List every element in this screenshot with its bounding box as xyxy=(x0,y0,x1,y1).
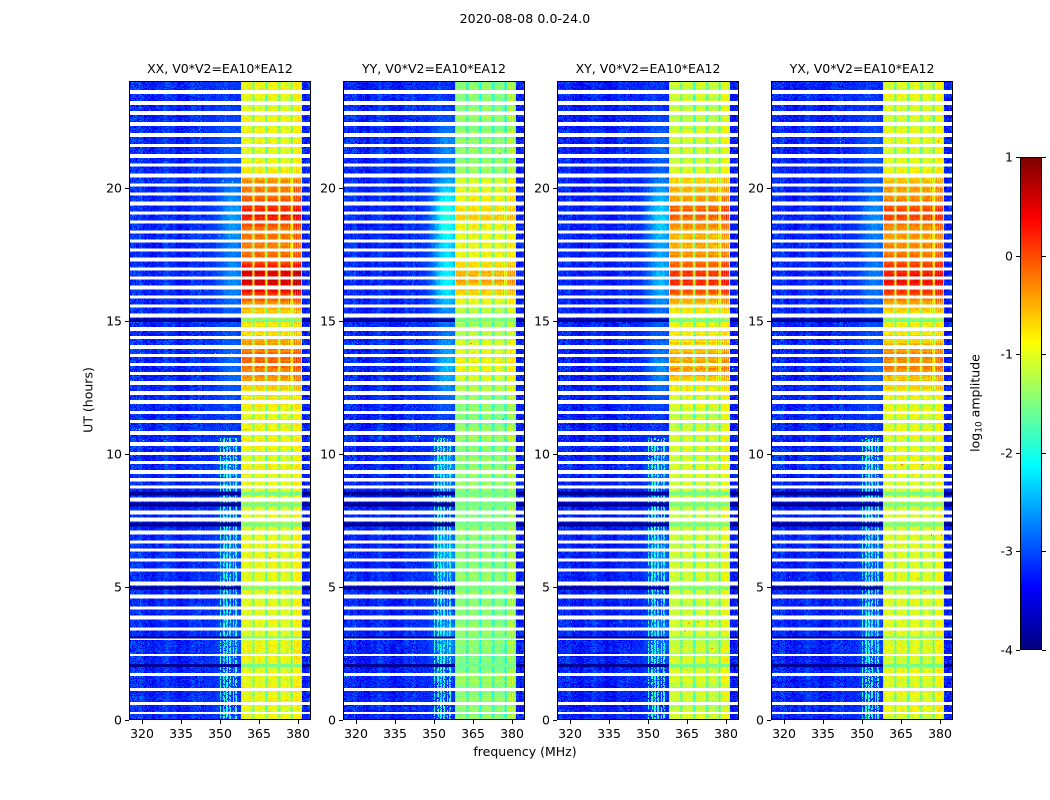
y-tick-label: 20 xyxy=(534,180,550,195)
x-tick xyxy=(901,720,902,724)
colorbar-tick xyxy=(1016,256,1020,257)
panel-xy-title: XY, V0*V2=EA10*EA12 xyxy=(576,61,721,76)
colorbar-tick xyxy=(1016,354,1020,355)
x-tick-label: 365 xyxy=(675,726,699,741)
panel-yx-title: YX, V0*V2=EA10*EA12 xyxy=(790,61,935,76)
y-tick xyxy=(553,720,557,721)
x-tick xyxy=(356,720,357,724)
panel-yy-title: YY, V0*V2=EA10*EA12 xyxy=(362,61,506,76)
x-tick-label: 380 xyxy=(500,726,524,741)
colorbar-tick xyxy=(1042,256,1046,257)
panel-yy-heatmap xyxy=(344,82,524,719)
panel-xy-heatmap xyxy=(558,82,738,719)
x-tick xyxy=(473,720,474,724)
y-tick xyxy=(767,587,771,588)
colorbar-tick xyxy=(1016,551,1020,552)
y-tick-label: 15 xyxy=(106,313,122,328)
y-tick xyxy=(125,720,129,721)
x-tick-label: 320 xyxy=(130,726,154,741)
x-tick-label: 350 xyxy=(422,726,446,741)
y-tick-label: 5 xyxy=(756,579,764,594)
figure-canvas: 2020-08-08 0.0-24.0 XX, V0*V2=EA10*EA12 … xyxy=(0,0,1050,800)
x-tick xyxy=(181,720,182,724)
y-tick xyxy=(339,321,343,322)
x-tick xyxy=(687,720,688,724)
colorbar-tick-label: -2 xyxy=(1001,445,1013,460)
y-tick xyxy=(125,454,129,455)
y-tick-label: 5 xyxy=(542,579,550,594)
panel-yx: YX, V0*V2=EA10*EA12 32033535036538005101… xyxy=(771,81,953,720)
x-tick xyxy=(434,720,435,724)
colorbar-tick-label: -4 xyxy=(1001,643,1013,658)
panel-xy: XY, V0*V2=EA10*EA12 32033535036538005101… xyxy=(557,81,739,720)
y-tick-label: 0 xyxy=(328,713,336,728)
colorbar-tick xyxy=(1042,551,1046,552)
x-tick-label: 365 xyxy=(247,726,271,741)
x-tick xyxy=(940,720,941,724)
x-tick-label: 350 xyxy=(208,726,232,741)
x-axis-label: frequency (MHz) xyxy=(0,744,1050,759)
y-tick xyxy=(767,454,771,455)
y-tick-label: 5 xyxy=(328,579,336,594)
y-tick-label: 10 xyxy=(106,446,122,461)
y-tick-label: 15 xyxy=(748,313,764,328)
colorbar-canvas xyxy=(1021,158,1041,649)
y-tick xyxy=(339,587,343,588)
x-tick-label: 380 xyxy=(286,726,310,741)
colorbar-tick-label: 0 xyxy=(1005,248,1013,263)
colorbar-tick-label: -3 xyxy=(1001,544,1013,559)
y-tick xyxy=(125,188,129,189)
y-tick-label: 20 xyxy=(106,180,122,195)
colorbar-label-subscript: 10 xyxy=(974,421,984,432)
panel-xx-heatmap xyxy=(130,82,310,719)
y-tick xyxy=(553,454,557,455)
x-tick-label: 365 xyxy=(461,726,485,741)
x-tick xyxy=(512,720,513,724)
y-tick xyxy=(339,720,343,721)
x-tick-label: 380 xyxy=(928,726,952,741)
y-tick xyxy=(125,587,129,588)
colorbar-gradient xyxy=(1020,157,1042,650)
colorbar-tick xyxy=(1016,650,1020,651)
y-tick xyxy=(767,720,771,721)
y-tick-label: 10 xyxy=(748,446,764,461)
colorbar-tick-label: 1 xyxy=(1005,150,1013,165)
panel-yx-plot[interactable] xyxy=(771,81,953,720)
panel-yx-heatmap xyxy=(772,82,952,719)
y-tick-label: 15 xyxy=(320,313,336,328)
panel-xx-title: XX, V0*V2=EA10*EA12 xyxy=(147,61,293,76)
x-tick-label: 320 xyxy=(558,726,582,741)
x-tick xyxy=(726,720,727,724)
x-tick-label: 350 xyxy=(850,726,874,741)
x-tick xyxy=(142,720,143,724)
y-tick xyxy=(125,321,129,322)
panel-xx: XX, V0*V2=EA10*EA12 32033535036538005101… xyxy=(129,81,311,720)
y-tick xyxy=(339,188,343,189)
x-tick xyxy=(395,720,396,724)
colorbar-tick xyxy=(1042,157,1046,158)
y-tick-label: 10 xyxy=(320,446,336,461)
x-tick xyxy=(570,720,571,724)
colorbar-label-tail: amplitude xyxy=(968,354,983,421)
panel-xy-plot[interactable] xyxy=(557,81,739,720)
colorbar-label-base: log xyxy=(968,433,983,452)
x-tick-label: 320 xyxy=(772,726,796,741)
colorbar-tick-label: -1 xyxy=(1001,347,1013,362)
y-tick-label: 20 xyxy=(748,180,764,195)
x-tick xyxy=(609,720,610,724)
x-tick xyxy=(784,720,785,724)
y-tick xyxy=(767,321,771,322)
figure-suptitle: 2020-08-08 0.0-24.0 xyxy=(0,11,1050,26)
x-tick-label: 335 xyxy=(597,726,621,741)
y-tick-label: 15 xyxy=(534,313,550,328)
y-tick xyxy=(767,188,771,189)
y-tick-label: 10 xyxy=(534,446,550,461)
x-tick-label: 365 xyxy=(889,726,913,741)
x-tick-label: 380 xyxy=(714,726,738,741)
y-tick-label: 0 xyxy=(114,713,122,728)
x-tick-label: 320 xyxy=(344,726,368,741)
y-tick-label: 0 xyxy=(542,713,550,728)
x-tick xyxy=(259,720,260,724)
colorbar-label: log10 amplitude xyxy=(968,354,985,452)
panel-yy: YY, V0*V2=EA10*EA12 32033535036538005101… xyxy=(343,81,525,720)
x-tick-label: 335 xyxy=(169,726,193,741)
y-tick-label: 20 xyxy=(320,180,336,195)
x-tick xyxy=(648,720,649,724)
x-tick xyxy=(862,720,863,724)
colorbar-tick xyxy=(1042,650,1046,651)
colorbar[interactable]: -4-3-2-101 log10 amplitude xyxy=(1020,157,1042,650)
y-tick xyxy=(553,321,557,322)
y-tick xyxy=(553,188,557,189)
colorbar-tick xyxy=(1042,354,1046,355)
colorbar-tick xyxy=(1016,157,1020,158)
y-axis-label: UT (hours) xyxy=(81,367,96,433)
y-tick xyxy=(339,454,343,455)
panel-xx-plot[interactable] xyxy=(129,81,311,720)
panel-yy-plot[interactable] xyxy=(343,81,525,720)
colorbar-tick xyxy=(1016,453,1020,454)
y-tick-label: 0 xyxy=(756,713,764,728)
x-tick-label: 335 xyxy=(383,726,407,741)
y-tick xyxy=(553,587,557,588)
colorbar-tick xyxy=(1042,453,1046,454)
x-tick-label: 335 xyxy=(811,726,835,741)
x-tick-label: 350 xyxy=(636,726,660,741)
y-tick-label: 5 xyxy=(114,579,122,594)
x-tick xyxy=(823,720,824,724)
x-tick xyxy=(298,720,299,724)
x-tick xyxy=(220,720,221,724)
